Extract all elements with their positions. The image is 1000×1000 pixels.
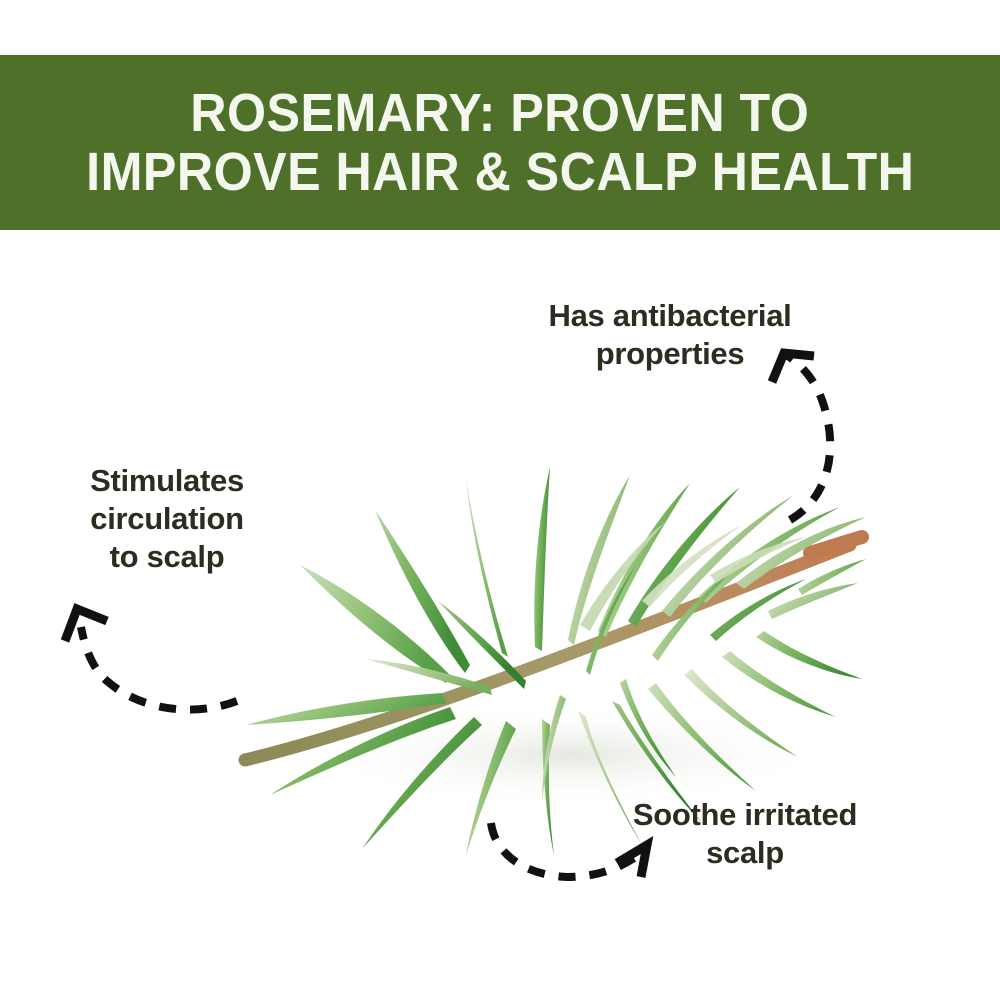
- callout-label-circulation: Stimulates circulation to scalp: [38, 462, 296, 576]
- infographic-canvas: ROSEMARY: PROVEN TO IMPROVE HAIR & SCALP…: [0, 0, 1000, 1000]
- callout-label-antibacterial: Has antibacterial properties: [500, 297, 840, 373]
- page-title-line-2: IMPROVE HAIR & SCALP HEALTH: [86, 143, 914, 201]
- callout-label-soothe: Soothe irritated scalp: [590, 796, 900, 872]
- page-title-line-1: ROSEMARY: PROVEN TO: [190, 84, 809, 142]
- header-banner: ROSEMARY: PROVEN TO IMPROVE HAIR & SCALP…: [0, 55, 1000, 230]
